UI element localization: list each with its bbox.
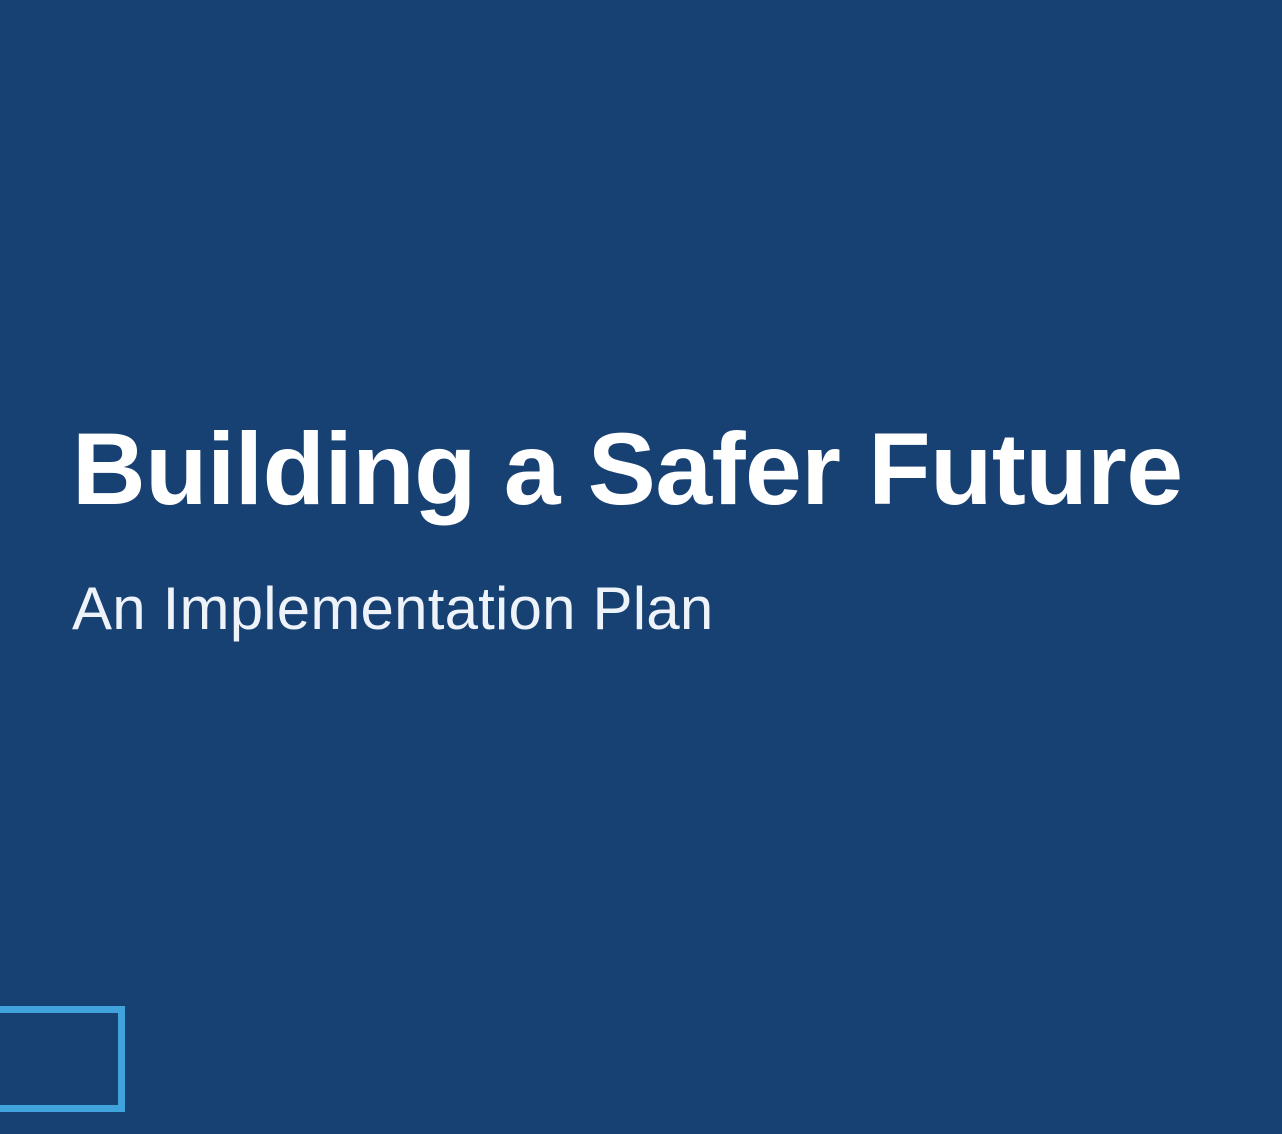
slide-title: Building a Safer Future bbox=[72, 414, 1192, 524]
title-slide: Building a Safer Future An Implementatio… bbox=[0, 0, 1282, 1134]
accent-rectangle-decoration bbox=[0, 1006, 125, 1112]
slide-subtitle: An Implementation Plan bbox=[72, 524, 1192, 642]
title-text-block: Building a Safer Future An Implementatio… bbox=[72, 414, 1192, 642]
